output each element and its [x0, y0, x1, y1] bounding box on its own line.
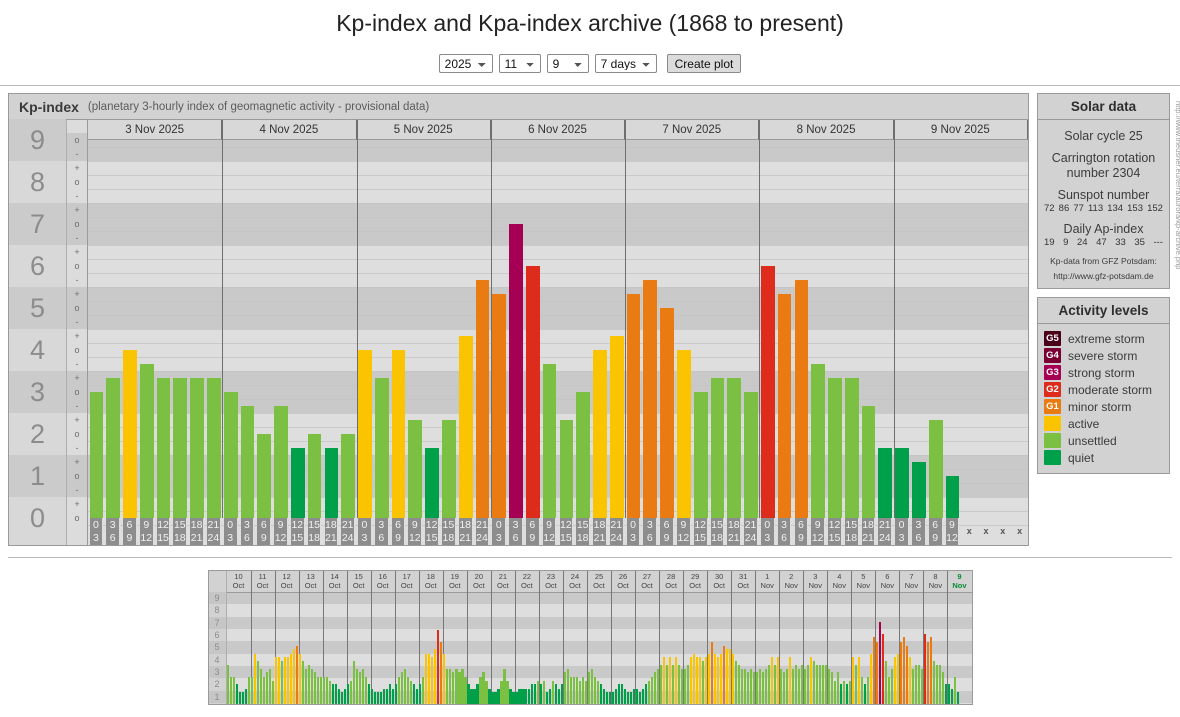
overview-kp-bar — [750, 669, 752, 704]
sunspot-value: 113 — [1088, 203, 1103, 214]
day-header: 3 Nov 2025 — [88, 120, 222, 140]
overview-day-header: 18Oct — [419, 571, 443, 592]
overview-kp-bar — [693, 654, 695, 704]
x-axis-tick: 2124 — [878, 518, 892, 545]
overview-kp-bar — [888, 677, 890, 704]
overview-kp-bar — [819, 665, 821, 704]
overview-kp-bar — [485, 681, 487, 704]
y-axis-label-2: 2 — [9, 413, 66, 455]
side-panels: Solar data Solar cycle 25 Carrington rot… — [1037, 93, 1170, 474]
overview-y-label-2: 2 — [209, 678, 226, 690]
x-axis-tick: 912 — [946, 518, 960, 545]
ap-value: 33 — [1115, 237, 1126, 248]
x-axis-tick: 1215 — [560, 518, 574, 545]
overview-kp-bar — [723, 646, 725, 704]
x-axis-tick: 69 — [526, 518, 540, 545]
overview-kp-bar — [573, 677, 575, 704]
gridline — [88, 343, 1028, 344]
overview-kp-bar — [780, 669, 782, 704]
no-data-marker: x — [1013, 518, 1027, 545]
overview-kp-bar — [948, 684, 950, 704]
x-axis-tick: 912 — [811, 518, 825, 545]
x-axis-tick: 03 — [90, 518, 104, 545]
x-axis-tick: 2124 — [341, 518, 355, 545]
overview-kp-bar — [401, 672, 403, 704]
overview-kp-bar — [404, 669, 406, 704]
y-axis-minor-tick: o — [67, 343, 87, 357]
overview-kp-bar — [666, 665, 668, 704]
overview-kp-bar — [275, 657, 277, 704]
activity-level-label: moderate storm — [1068, 383, 1152, 397]
x-axis-tick: 1518 — [442, 518, 456, 545]
overview-day-header: 11Oct — [251, 571, 275, 592]
grid-band — [88, 371, 1028, 385]
overview-kp-bar — [648, 681, 650, 704]
overview-kp-bar — [317, 677, 319, 704]
page-title: Kp-index and Kpa-index archive (1868 to … — [0, 0, 1180, 37]
overview-kp-bar — [582, 677, 584, 704]
x-axis-tick: 36 — [509, 518, 523, 545]
x-axis-tick: 69 — [660, 518, 674, 545]
y-axis-minor-tick: o — [67, 259, 87, 273]
overview-kp-bar — [470, 689, 472, 704]
overview-day-header: 10Oct — [227, 571, 251, 592]
overview-kp-bar — [714, 654, 716, 704]
overview-day-header: 9Nov — [947, 571, 971, 592]
overview-kp-bar — [807, 665, 809, 704]
solar-cycle: Solar cycle 25 — [1042, 129, 1165, 144]
overview-kp-bar — [443, 654, 445, 704]
overview-kp-bar — [783, 672, 785, 704]
overview-kp-bar — [876, 642, 878, 704]
overview-kp-bar — [906, 646, 908, 704]
overview-kp-bar — [894, 657, 896, 704]
day-header: 9 Nov 2025 — [894, 120, 1028, 140]
activity-level-label: unsettled — [1068, 434, 1117, 448]
overview-kp-bar — [239, 692, 241, 704]
overview-kp-bar — [245, 689, 247, 704]
overview-kp-bar — [669, 657, 671, 704]
overview-kp-bar — [452, 672, 454, 704]
overview-kp-bar — [606, 692, 608, 704]
activity-level-swatch — [1044, 433, 1061, 448]
overview-kp-bar — [870, 654, 872, 704]
overview-kp-bar — [786, 669, 788, 704]
overview-kp-bar — [627, 692, 629, 704]
overview-kp-bar — [359, 672, 361, 704]
kp-bar — [257, 434, 271, 518]
kp-bar — [207, 378, 221, 518]
kp-bar — [912, 462, 926, 518]
kp-bar — [123, 350, 137, 518]
overview-kp-bar — [654, 672, 656, 704]
overview-grid-band — [227, 604, 972, 616]
overview-kp-bar — [771, 657, 773, 704]
x-axis-tick: 1821 — [325, 518, 339, 545]
kp-bar — [325, 448, 339, 518]
overview-day-header: 27Oct — [635, 571, 659, 592]
overview-y-label-6: 6 — [209, 629, 226, 641]
x-axis-tick: 36 — [375, 518, 389, 545]
overview-kp-bar — [299, 654, 301, 704]
overview-kp-bar — [576, 677, 578, 704]
y-axis-minor-tick: + — [67, 371, 87, 385]
kp-bar — [660, 308, 674, 518]
overview-kp-bar — [386, 689, 388, 704]
kp-chart-body: 9876543210 o-+o-+o-+o-+o-+o-+o-+o-+o-+o … — [9, 120, 1028, 545]
overview-day-header: 26Oct — [611, 571, 635, 592]
overview-kp-bar — [933, 661, 935, 704]
grid-band — [88, 343, 1028, 357]
kp-bar — [224, 392, 238, 518]
overview-kp-bar — [524, 689, 526, 704]
overview-kp-bar — [347, 684, 349, 704]
y-axis-label-0: 0 — [9, 497, 66, 539]
x-axis-tick: 2124 — [207, 518, 221, 545]
kp-bar — [291, 448, 305, 518]
overview-bar-plot[interactable]: 10Oct11Oct12Oct13Oct14Oct15Oct16Oct17Oct… — [227, 571, 972, 704]
activity-level-swatch — [1044, 450, 1061, 465]
overview-day-header: 13Oct — [299, 571, 323, 592]
kp-bar — [442, 420, 456, 518]
kp-bar — [727, 378, 741, 518]
overview-kp-bar — [813, 661, 815, 704]
overview-kp-bar — [717, 657, 719, 704]
grid-band — [88, 161, 1028, 175]
ap-value: 9 — [1063, 237, 1068, 248]
overview-kp-bar — [395, 684, 397, 704]
overview-kp-bar — [675, 657, 677, 704]
overview-kp-bar — [891, 669, 893, 704]
year-select[interactable]: 2025 — [439, 54, 493, 73]
ap-index-label: Daily Ap-index — [1042, 222, 1165, 237]
kp-bar — [627, 294, 641, 518]
overview-kp-bar — [531, 684, 533, 704]
kp-bar — [341, 434, 355, 518]
sunspot-value: 152 — [1147, 203, 1163, 214]
gridline — [88, 287, 1028, 288]
kp-bar — [643, 280, 657, 518]
kp-bar — [845, 378, 859, 518]
kp-bar — [157, 378, 171, 518]
overview-kp-bar — [636, 689, 638, 704]
kp-bar — [358, 350, 372, 518]
overview-kp-bar — [467, 684, 469, 704]
overview-kp-bar — [846, 684, 848, 704]
x-axis-tick: 912 — [274, 518, 288, 545]
overview-kp-bar — [744, 669, 746, 704]
overview-day-header: 4Nov — [827, 571, 851, 592]
x-axis-tick: 1821 — [727, 518, 741, 545]
overview-kp-bar — [651, 677, 653, 704]
overview-panel[interactable]: 987654321 10Oct11Oct12Oct13Oct14Oct15Oct… — [208, 570, 973, 705]
overview-kp-bar — [579, 681, 581, 704]
x-axis-tick: 1518 — [711, 518, 725, 545]
overview-day-header: 16Oct — [371, 571, 395, 592]
kp-bar — [543, 364, 557, 518]
overview-kp-bar — [455, 669, 457, 704]
y-axis-minor-tick: + — [67, 287, 87, 301]
gridline — [88, 147, 1028, 148]
x-axis-tick: 03 — [895, 518, 909, 545]
overview-kp-bar — [350, 681, 352, 704]
y-axis-minor-tick: + — [67, 329, 87, 343]
overview-kp-bar — [546, 692, 548, 704]
overview-kp-bar — [419, 684, 421, 704]
kp-bar — [425, 448, 439, 518]
credit-link[interactable]: http://www.gfz-potsdam.de — [1042, 271, 1165, 282]
overview-kp-bar — [684, 669, 686, 704]
y-axis-label-7: 7 — [9, 203, 66, 245]
kp-bar — [476, 280, 490, 518]
sunspot-value: 153 — [1127, 203, 1143, 214]
overview-kp-bar — [503, 669, 505, 704]
x-axis-tick: 03 — [492, 518, 506, 545]
kp-bar — [140, 364, 154, 518]
kp-bar — [895, 448, 909, 518]
y-axis-minor-tick: o — [67, 133, 87, 147]
day-header: 5 Nov 2025 — [357, 120, 491, 140]
y-axis-minor-tick: - — [67, 399, 87, 413]
overview-kp-bar — [663, 657, 665, 704]
overview-kp-bar — [840, 684, 842, 704]
kp-bar — [560, 420, 574, 518]
grid-band — [88, 245, 1028, 259]
x-axis-tick: 36 — [106, 518, 120, 545]
overview-kp-bar — [612, 692, 614, 704]
overview-kp-bar — [912, 669, 914, 704]
x-axis-tick: 36 — [912, 518, 926, 545]
overview-day-header: 12Oct — [275, 571, 299, 592]
gridline — [88, 301, 1028, 302]
overview-kp-bar — [642, 689, 644, 704]
overview-kp-bar — [534, 684, 536, 704]
y-axis-minor-tick: - — [67, 441, 87, 455]
overview-kp-bar — [861, 677, 863, 704]
kp-bar — [90, 392, 104, 518]
overview-kp-bar — [834, 681, 836, 704]
x-axis-tick: 2124 — [476, 518, 490, 545]
sunspot-number-label: Sunspot number — [1042, 188, 1165, 203]
activity-level-item: G2moderate storm — [1044, 382, 1163, 397]
overview-kp-bar — [594, 677, 596, 704]
activity-level-swatch: G4 — [1044, 348, 1061, 363]
kp-bar — [694, 392, 708, 518]
overview-kp-bar — [630, 692, 632, 704]
x-axis-tick: 2124 — [610, 518, 624, 545]
overview-kp-bar — [726, 649, 728, 704]
overview-kp-bar — [410, 681, 412, 704]
activity-level-swatch — [1044, 416, 1061, 431]
x-axis-tick: 912 — [543, 518, 557, 545]
overview-kp-bar — [332, 684, 334, 704]
overview-day-header: 22Oct — [515, 571, 539, 592]
x-axis-tick: 69 — [929, 518, 943, 545]
kp-bar — [593, 350, 607, 518]
ap-value: 24 — [1077, 237, 1088, 248]
grid-band — [88, 301, 1028, 315]
overview-y-label-1: 1 — [209, 691, 226, 703]
overview-kp-bar — [302, 661, 304, 704]
ap-value: 47 — [1096, 237, 1107, 248]
y-axis-label-3: 3 — [9, 371, 66, 413]
x-axis-tick: 1821 — [862, 518, 876, 545]
overview-kp-bar — [305, 669, 307, 704]
overview-kp-bar — [500, 681, 502, 704]
sunspot-value: 72 — [1044, 203, 1055, 214]
overview-kp-bar — [281, 661, 283, 704]
overview-kp-bar — [473, 689, 475, 704]
overview-kp-bar — [479, 677, 481, 704]
x-axis-tick: 69 — [257, 518, 271, 545]
overview-day-header: 19Oct — [443, 571, 467, 592]
overview-kp-bar — [843, 681, 845, 704]
grid-band — [88, 147, 1028, 161]
overview-y-label-8: 8 — [209, 604, 226, 616]
grid-band — [88, 203, 1028, 217]
overview-kp-bar — [476, 684, 478, 704]
grid-band — [88, 315, 1028, 329]
activity-level-label: active — [1068, 417, 1099, 431]
overview-kp-bar — [903, 637, 905, 704]
kp-bar — [929, 420, 943, 518]
overview-kp-bar — [497, 689, 499, 704]
x-axis-tick: 2124 — [744, 518, 758, 545]
x-axis-tick: 1821 — [459, 518, 473, 545]
kp-bar — [677, 350, 691, 518]
overview-kp-bar — [708, 654, 710, 704]
overview-kp-bar — [515, 692, 517, 704]
y-axis-major: 9876543210 — [9, 120, 67, 545]
kp-bar — [811, 364, 825, 518]
overview-kp-bar — [603, 689, 605, 704]
overview-day-separator — [635, 571, 636, 704]
grid-band — [88, 175, 1028, 189]
overview-kp-bar — [735, 661, 737, 704]
overview-kp-bar — [506, 681, 508, 704]
overview-kp-bar — [552, 681, 554, 704]
grid-band — [88, 259, 1028, 273]
kp-panel-header: Kp-index (planetary 3-hourly index of ge… — [9, 94, 1028, 120]
solar-data-heading: Solar data — [1038, 94, 1169, 120]
x-axis-tick: 1518 — [576, 518, 590, 545]
create-plot-button[interactable]: Create plot — [667, 54, 742, 73]
x-axis-tick: 912 — [140, 518, 154, 545]
kp-bar — [492, 294, 506, 518]
overview-day-header: 6Nov — [875, 571, 899, 592]
x-axis-tick: 69 — [795, 518, 809, 545]
overview-kp-bar — [323, 677, 325, 704]
overview-kp-bar — [699, 657, 701, 704]
overview-kp-bar — [482, 672, 484, 704]
overview-kp-bar — [942, 672, 944, 704]
overview-kp-bar — [831, 672, 833, 704]
day-header: 4 Nov 2025 — [222, 120, 356, 140]
activity-level-swatch: G2 — [1044, 382, 1061, 397]
activity-levels-panel: Activity levels G5extreme stormG4severe … — [1037, 297, 1170, 474]
overview-kp-bar — [939, 665, 941, 704]
overview-kp-bar — [600, 684, 602, 704]
x-axis-tick: 03 — [761, 518, 775, 545]
overview-day-header: 31Oct — [731, 571, 755, 592]
carrington-rotation: Carrington rotation number 2304 — [1042, 151, 1165, 181]
overview-kp-bar — [236, 684, 238, 704]
x-axis-tick: 912 — [677, 518, 691, 545]
overview-kp-bar — [759, 669, 761, 704]
overview-kp-bar — [852, 657, 854, 704]
overview-kp-bar — [798, 669, 800, 704]
kp-panel-title: Kp-index — [19, 99, 79, 115]
activity-level-swatch: G1 — [1044, 399, 1061, 414]
overview-kp-bar — [257, 661, 259, 704]
kp-bar — [392, 350, 406, 518]
overview-kp-bar — [314, 672, 316, 704]
overview-day-header: 29Oct — [683, 571, 707, 592]
x-axis-tick: 69 — [392, 518, 406, 545]
overview-kp-bar — [639, 692, 641, 704]
month-select[interactable]: 11 — [499, 54, 541, 73]
overview-kp-bar — [365, 677, 367, 704]
overview-kp-bar — [413, 684, 415, 704]
y-axis-label-5: 5 — [9, 287, 66, 329]
y-axis-label-8: 8 — [9, 161, 66, 203]
grid-band — [88, 287, 1028, 301]
activity-level-item: unsettled — [1044, 433, 1163, 448]
controls-bar: 2025 11 9 7 days Create plot — [0, 54, 1180, 73]
overview-kp-bar — [810, 657, 812, 704]
y-axis-minor-tick: o — [67, 427, 87, 441]
overview-kp-bar — [885, 661, 887, 704]
activity-levels-list: G5extreme stormG4severe stormG3strong st… — [1038, 324, 1169, 473]
gridline — [88, 315, 1028, 316]
overview-kp-bar — [398, 677, 400, 704]
overview-kp-bar — [660, 665, 662, 704]
overview-kp-bar — [711, 642, 713, 704]
gridline — [88, 203, 1028, 204]
overview-kp-bar — [927, 642, 929, 704]
grid-band — [88, 231, 1028, 245]
overview-kp-bar — [837, 672, 839, 704]
overview-kp-bar — [702, 661, 704, 704]
ap-index-values: 19924473335--- — [1042, 237, 1165, 248]
overview-day-separator — [611, 571, 612, 704]
x-axis-tick: 1518 — [173, 518, 187, 545]
overview-kp-bar — [765, 669, 767, 704]
range-select[interactable]: 7 days — [595, 54, 657, 73]
day-select[interactable]: 9 — [547, 54, 589, 73]
overview-day-header: 5Nov — [851, 571, 875, 592]
overview-kp-bar — [858, 657, 860, 704]
overview-kp-bar — [428, 654, 430, 704]
overview-y-label-5: 5 — [209, 641, 226, 653]
activity-level-swatch: G5 — [1044, 331, 1061, 346]
overview-kp-bar — [867, 677, 869, 704]
y-axis-minor-tick: o — [67, 301, 87, 315]
overview-day-header: 17Oct — [395, 571, 419, 592]
overview-kp-bar — [407, 677, 409, 704]
sunspot-values: 728677113134153152 — [1042, 203, 1165, 214]
overview-kp-bar — [518, 689, 520, 704]
overview-day-header: 14Oct — [323, 571, 347, 592]
overview-kp-bar — [431, 657, 433, 704]
overview-kp-bar — [374, 692, 376, 704]
overview-kp-bar — [624, 689, 626, 704]
overview-kp-bar — [449, 669, 451, 704]
x-axis-tick: 1215 — [828, 518, 842, 545]
overview-kp-bar — [909, 657, 911, 704]
activity-level-item: G3strong storm — [1044, 365, 1163, 380]
overview-kp-bar — [591, 669, 593, 704]
